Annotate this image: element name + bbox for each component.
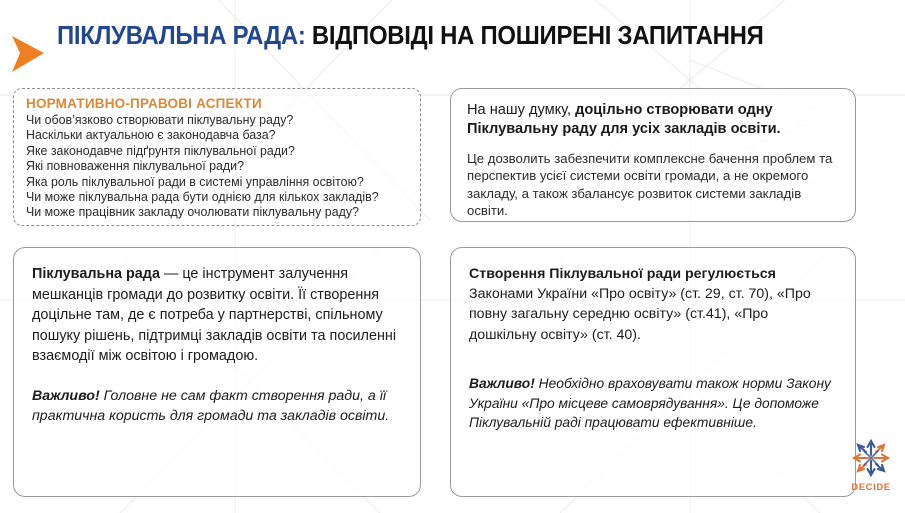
question-item: Чи обов’язково створювати піклувальну ра… (26, 113, 404, 128)
decide-logo: DECIDE (845, 437, 897, 495)
opinion-lead-normal: На нашу думку, (467, 102, 575, 118)
legal-note-label: Важливо! (469, 376, 535, 391)
legal-note: Важливо! Необхідно враховувати також нор… (469, 374, 837, 433)
legal-body: Створення Піклувальної ради регулюється … (469, 264, 837, 345)
page-title-rest: ВІДПОВІДІ НА ПОШИРЕНІ ЗАПИТАННЯ (306, 20, 764, 50)
definition-note-label: Важливо! (32, 388, 100, 404)
question-item: Наскільки актуальною є законодавча база? (26, 128, 404, 143)
opinion-body: Це дозволить забезпечити комплексне баче… (467, 150, 839, 220)
normative-heading: НОРМАТИВНО-ПРАВОВІ АСПЕКТИ (26, 96, 410, 111)
opinion-card: На нашу думку, доцільно створювати одну … (450, 88, 856, 222)
definition-body: Піклувальна рада — це інструмент залучен… (32, 264, 402, 367)
question-item: Яке законодавче підґрунтя піклувальної р… (26, 144, 404, 159)
decide-logo-text: DECIDE (845, 482, 897, 493)
question-item: Які повноваження піклувальної ради? (26, 159, 404, 174)
decide-snowflake-icon (845, 437, 897, 481)
legal-basis-card: Створення Піклувальної ради регулюється … (450, 247, 856, 497)
normative-aspects-card: НОРМАТИВНО-ПРАВОВІ АСПЕКТИ Чи обов’язков… (13, 88, 421, 226)
definition-note: Важливо! Головне не сам факт створення р… (32, 386, 402, 427)
page-title-accent: ПІКЛУВАЛЬНА РАДА: (57, 20, 306, 50)
slide-header: ПІКЛУВАЛЬНА РАДА: ВІДПОВІДІ НА ПОШИРЕНІ … (0, 10, 905, 85)
definition-bold-lead: Піклувальна рада (32, 266, 160, 282)
chevron-right-icon (8, 32, 52, 76)
legal-bold-lead: Створення Піклувальної ради регулюється (469, 266, 776, 282)
question-item: Яка роль піклувальної ради в системі упр… (26, 175, 404, 190)
slide-canvas: ПІКЛУВАЛЬНА РАДА: ВІДПОВІДІ НА ПОШИРЕНІ … (0, 0, 905, 513)
legal-text: Законами України «Про освіту» (ст. 29, с… (469, 286, 811, 342)
opinion-lead: На нашу думку, доцільно створювати одну … (467, 101, 839, 139)
question-item: Чи може працівник закладу очолювати пікл… (26, 205, 404, 220)
page-title: ПІКЛУВАЛЬНА РАДА: ВІДПОВІДІ НА ПОШИРЕНІ … (57, 20, 793, 51)
definition-card: Піклувальна рада — це інструмент залучен… (13, 247, 421, 497)
question-item: Чи може піклувальна рада бути однією для… (26, 190, 404, 205)
